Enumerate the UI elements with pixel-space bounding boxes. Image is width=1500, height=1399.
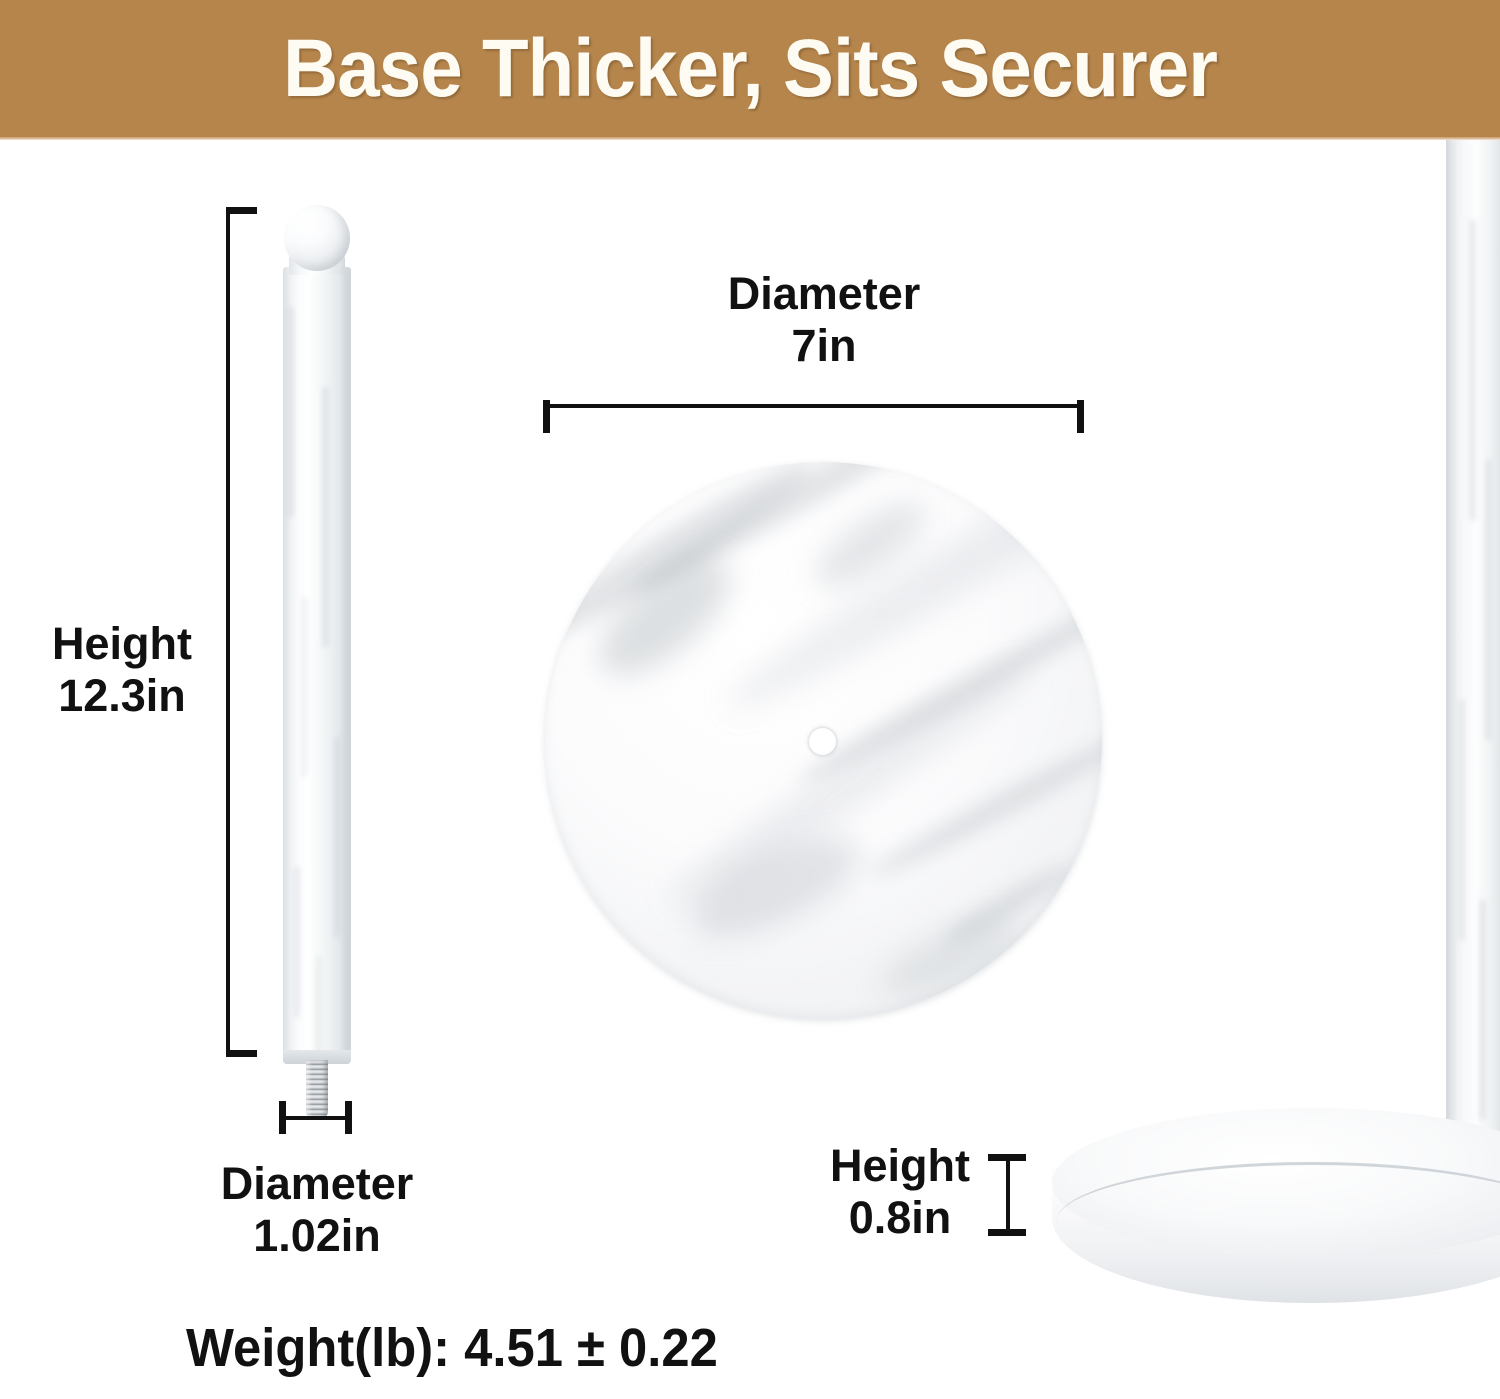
base-height-bottom-tick [988, 1229, 1026, 1236]
rod-threaded-screw [306, 1060, 328, 1120]
marble-base-disc [545, 462, 1102, 1019]
product-dimension-infographic: Base Thicker, Sits Securer Height 12.3in… [0, 0, 1500, 1399]
rod-height-top-tick [226, 207, 257, 214]
rod-diameter-label: Diameter 1.02in [203, 1158, 431, 1262]
weight-text: Weight(lb): 4.51 ± 0.22 [186, 1317, 718, 1379]
rod-shaft [283, 267, 351, 1057]
rod-diameter-dimension-line [282, 1116, 350, 1120]
disc-diameter-left-tick [543, 400, 550, 433]
rod-diameter-left-tick [279, 1101, 286, 1134]
rod-ball-finial [284, 205, 350, 271]
disc-diameter-right-tick [1077, 400, 1084, 433]
marble-rod-part [283, 205, 351, 1125]
disc-center-hole [809, 728, 836, 755]
base-height-dimension-line [1006, 1157, 1010, 1235]
assembled-product-post [1446, 140, 1500, 1175]
rod-height-label: Height 12.3in [28, 618, 216, 722]
banner-bottom-edge [0, 137, 1500, 140]
assembled-product-base [1052, 1108, 1500, 1338]
base-height-top-tick [988, 1154, 1026, 1161]
banner-title: Base Thicker, Sits Securer [283, 22, 1217, 116]
base-height-label: Height 0.8in [810, 1140, 990, 1244]
rod-height-bottom-tick [226, 1050, 257, 1057]
disc-diameter-dimension-line [545, 404, 1083, 408]
rod-height-dimension-line [226, 210, 230, 1057]
disc-diameter-label: Diameter 7in [668, 268, 980, 372]
header-banner: Base Thicker, Sits Securer [0, 0, 1500, 137]
rod-diameter-right-tick [345, 1101, 352, 1134]
